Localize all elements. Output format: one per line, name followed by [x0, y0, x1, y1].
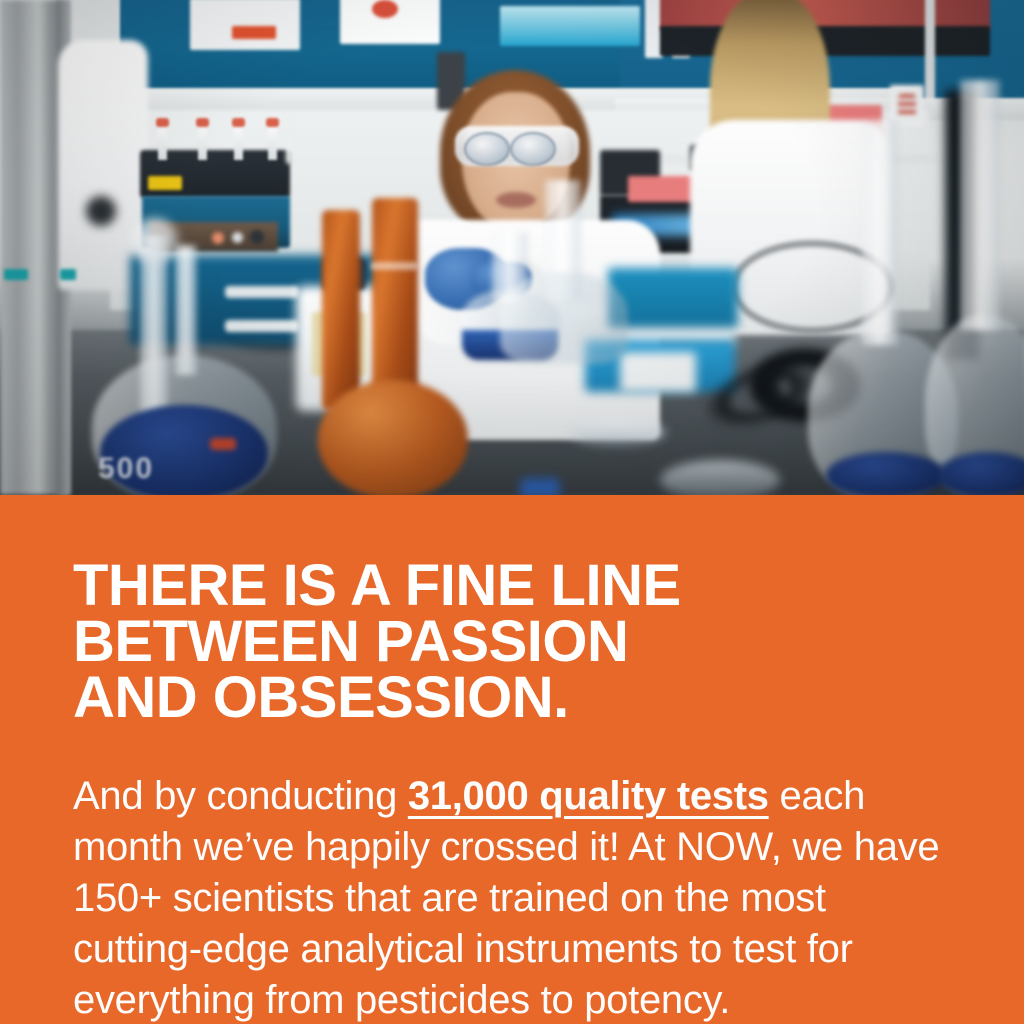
- promo-poster: 500: [0, 0, 1024, 1024]
- teal-marker-2: [60, 269, 76, 280]
- flask-right-2-neck: [960, 80, 1000, 330]
- cabinet-shelf-box-1: [190, 0, 300, 50]
- test-tube-cap-3: [232, 118, 245, 127]
- instrument-yellow-label: [148, 176, 182, 190]
- body-text-before: And by conducting: [73, 774, 408, 818]
- wall-outlet-dots: [898, 94, 916, 116]
- flask-500-red-mark: [210, 438, 236, 450]
- flask-500-label: 500: [98, 452, 154, 486]
- bench-cabinet-handle-1: [225, 286, 299, 298]
- bench-clear-dish-right: [660, 460, 780, 495]
- flask-right-1-neck: [862, 120, 898, 345]
- flask-centre-right-body: [500, 272, 628, 364]
- instrument-knob-2: [232, 232, 243, 243]
- teal-marker-1: [4, 269, 28, 280]
- instrument-knob-3: [250, 230, 264, 244]
- cabinet-shelf-cyan-tray: [500, 6, 640, 46]
- amber-flask-bulb: [318, 380, 468, 495]
- test-tube-cap-4: [266, 118, 279, 127]
- flask-right-2-liquid: [938, 452, 1024, 495]
- scientist-front-mouth: [496, 192, 536, 208]
- bench-cabinet-handle-2: [225, 320, 299, 332]
- cabinet-door-divider: [925, 0, 935, 106]
- rack-rod: [286, 112, 292, 164]
- flask-right-1-liquid: [826, 452, 946, 495]
- quality-tests-highlight: 31,000 quality tests: [408, 774, 769, 818]
- pipette-left-bulb: [132, 218, 178, 264]
- instrument-knob-1: [212, 232, 224, 244]
- cabinet-shelf-label-red: [232, 26, 276, 39]
- page-title: THERE IS A FINE LINE BETWEEN PASSION AND…: [73, 558, 973, 726]
- scientist-left-hand: [86, 196, 116, 226]
- goggles-lens-left: [464, 132, 510, 166]
- test-tube-cap-1: [156, 118, 169, 127]
- goggles-lens-right: [510, 132, 556, 166]
- bench-petri-dish: [570, 420, 666, 446]
- orange-text-panel: THERE IS A FINE LINE BETWEEN PASSION AND…: [0, 495, 1024, 1024]
- test-tube-cap-2: [196, 118, 209, 127]
- lab-photo: 500: [0, 0, 1024, 495]
- amber-column-ring: [370, 262, 418, 270]
- bench-blue-cap-left: [520, 478, 560, 495]
- body-paragraph: And by conducting 31,000 quality tests e…: [73, 771, 953, 1024]
- amber-column-1: [322, 210, 360, 410]
- bench-device-panel: [620, 352, 696, 392]
- lab-scene-background: 500: [0, 0, 1024, 495]
- cabinet-shelf-red-dot: [372, 0, 398, 18]
